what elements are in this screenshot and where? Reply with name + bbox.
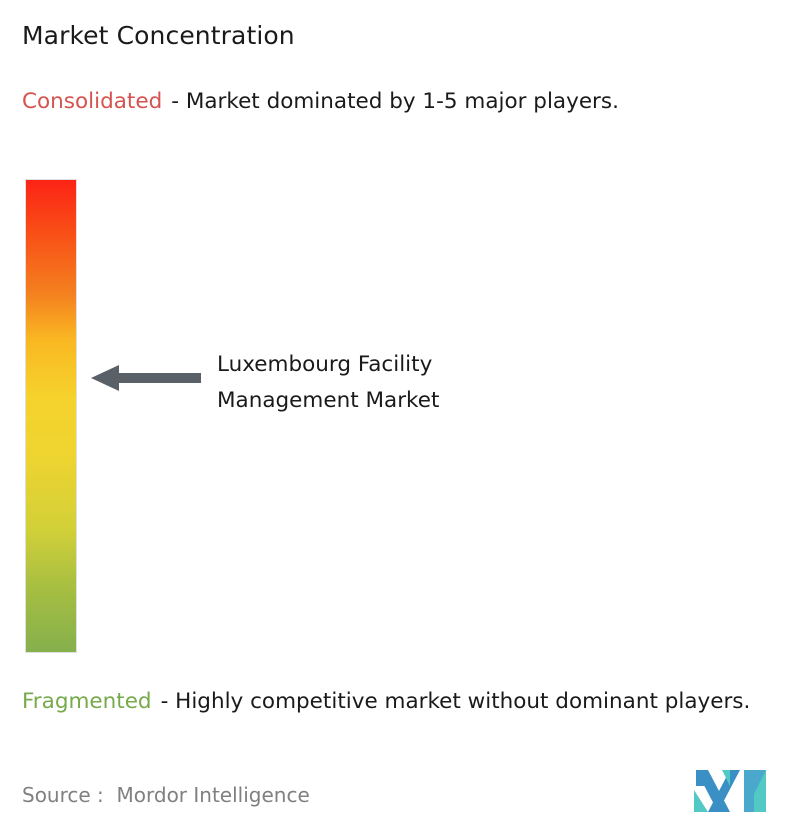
market-label-line-2: Management Market <box>217 383 547 419</box>
source-value: Mordor Intelligence <box>117 783 310 807</box>
fragmented-description: - Highly competitive market without domi… <box>161 689 751 714</box>
source-attribution: Source : Mordor Intelligence <box>22 783 310 807</box>
fragmented-keyword: Fragmented <box>22 689 152 714</box>
mi-monogram-icon <box>694 766 766 814</box>
consolidated-caption: Consolidated- Market dominated by 1-5 ma… <box>22 86 767 117</box>
market-label-line-1: Luxembourg Facility <box>217 347 547 383</box>
consolidated-keyword: Consolidated <box>22 89 162 114</box>
market-concentration-chart: Market Concentration Consolidated- Marke… <box>0 0 796 834</box>
page-title: Market Concentration <box>22 21 295 50</box>
left-arrow-icon <box>91 364 201 392</box>
mordor-intelligence-logo <box>694 766 766 814</box>
source-label: Source : <box>22 783 104 807</box>
fragmented-caption: Fragmented- Highly competitive market wi… <box>22 686 792 717</box>
consolidated-description: - Market dominated by 1-5 major players. <box>171 89 619 114</box>
market-position-arrow <box>91 364 201 392</box>
concentration-gradient-bar <box>26 180 76 652</box>
market-position-label: Luxembourg Facility Management Market <box>217 347 547 419</box>
